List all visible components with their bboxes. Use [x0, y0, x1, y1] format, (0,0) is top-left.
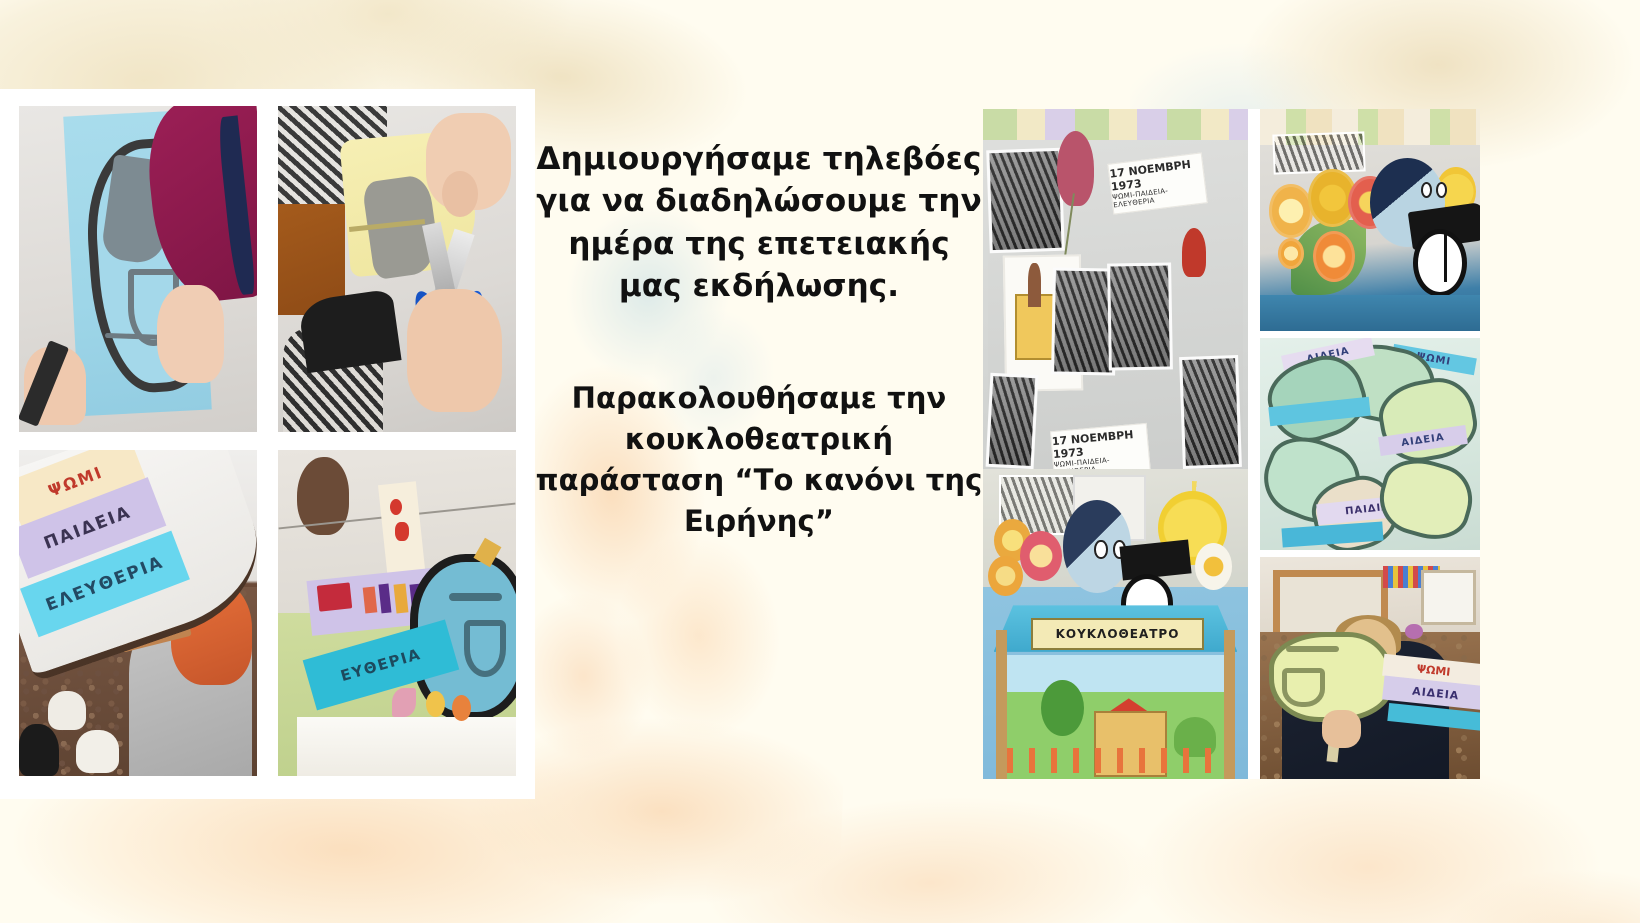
child-finger: [442, 171, 478, 217]
slide-canvas: ΨΩΜΙ ΠΑΙΔΕΙΑ ΕΛΕΥΘΕΡΙΑ: [0, 0, 1640, 923]
child-megaphone-handle: [1282, 668, 1325, 707]
photo-puppet-theatre-stage: ΚΟΥΚΛΟΘΕΑΤΡΟ: [983, 469, 1248, 779]
photo-child-cutting-megaphone: [278, 106, 516, 432]
card-red-mark-a: [390, 499, 402, 515]
theatre-post-right: [1224, 630, 1235, 779]
historic-photo-small: [1273, 132, 1366, 175]
child-lower-hand: [407, 289, 502, 413]
whiteboard: [1421, 570, 1475, 625]
adult-black-shoe: [19, 724, 59, 776]
child-hand-holding: [1322, 710, 1362, 748]
paragraph-creation: Δημιουργήσαμε τηλεβόες για να διαδηλώσου…: [533, 138, 985, 308]
left-photo-panel: ΨΩΜΙ ΠΑΙΔΕΙΑ ΕΛΕΥΘΕΡΙΑ: [0, 89, 535, 799]
flower-cutout-orange: [452, 695, 471, 721]
daisy-cutout: [1195, 543, 1232, 590]
paper-flower-b: [1020, 531, 1062, 581]
painted-tree: [1041, 680, 1083, 736]
historic-photo-4: [986, 372, 1039, 469]
moon-eye-a: [1421, 182, 1432, 198]
blue-water-strip: [1260, 295, 1480, 331]
photo-wall-display-megaphone: ΕΥΘΕΡΙΑ: [278, 450, 516, 776]
top-childrens-artwork-strip: [983, 109, 1248, 140]
photo-paper-megaphone-pile: ΨΩΜΙ ΑΙΔΕΙΑ ΑΙΔΕΙΑ ΠΑΙΔΙΑ: [1260, 338, 1480, 550]
photo-child-drawing-megaphone: [19, 106, 257, 432]
ballot-hand: [1028, 263, 1041, 307]
flower-cutout-yellow: [426, 691, 445, 717]
paint-stroke-yellow: [393, 583, 408, 613]
megaphone-bar-detail: [449, 593, 501, 601]
historic-photo-1: [987, 147, 1065, 253]
historic-photo-5: [1179, 355, 1242, 469]
painted-flower-row: [1007, 748, 1224, 773]
paint-stroke-orange: [362, 586, 377, 613]
child-shoe-right: [76, 730, 119, 772]
board-label-top: 17 ΝΟΕΜΒΡΗ 1973 ΨΩΜΙ-ΠΑΙΔΕΙΑ-ΕΛΕΥΘΕΡΙΑ: [1107, 152, 1207, 214]
moon-eye-left: [1094, 540, 1107, 559]
megaphone-handle-detail: [464, 620, 507, 678]
paper-flower-1: [1269, 184, 1313, 237]
card-red-mark-b: [395, 522, 409, 542]
paper-flower-c: [988, 556, 1022, 596]
slide-text-column: Δημιουργήσαμε τηλεβόες για να διαδηλώσου…: [533, 138, 985, 543]
photo-flowers-moon-cannon: [1260, 109, 1480, 331]
paper-carnation-1: [1057, 131, 1094, 206]
child-shoe-left: [48, 691, 86, 730]
moon-eye-b: [1436, 182, 1447, 198]
hair-tie: [1405, 624, 1423, 640]
paragraph-puppetshow: Παρακολουθήσαμε την κουκλοθεατρική παράσ…: [533, 378, 985, 543]
historic-photo-3: [1107, 263, 1173, 372]
child-megaphone-bar: [1286, 646, 1339, 652]
child-right-hand: [157, 285, 224, 383]
bottom-drawings-row: [297, 717, 516, 776]
theatre-banner: ΚΟΥΚΛΟΘΕΑΤΡΟ: [1031, 618, 1205, 650]
cannon-wheel-spoke: [1444, 233, 1447, 282]
paint-stroke-red: [317, 582, 353, 611]
paper-flower-4: [1313, 231, 1355, 282]
photo-protest-signs-table: ΨΩΜΙ ΠΑΙΔΕΙΑ ΕΛΕΥΘΕΡΙΑ: [19, 450, 257, 776]
theatre-post-left: [996, 630, 1007, 779]
cannon-wheel-cutout: [1413, 229, 1467, 297]
paper-carnation-2: [1182, 228, 1206, 277]
photo-child-with-megaphone: ΨΩΜΙ ΑΙΔΕΙΑ: [1260, 557, 1480, 779]
paper-flower-5: [1278, 238, 1304, 269]
left-photo-grid: ΨΩΜΙ ΠΑΙΔΕΙΑ ΕΛΕΥΘΕΡΙΑ: [19, 106, 516, 782]
right-photo-collage: 17 ΝΟΕΜΒΡΗ 1973 ΨΩΜΙ-ΠΑΙΔΕΙΑ-ΕΛΕΥΘΕΡΙΑ 1…: [983, 109, 1480, 779]
